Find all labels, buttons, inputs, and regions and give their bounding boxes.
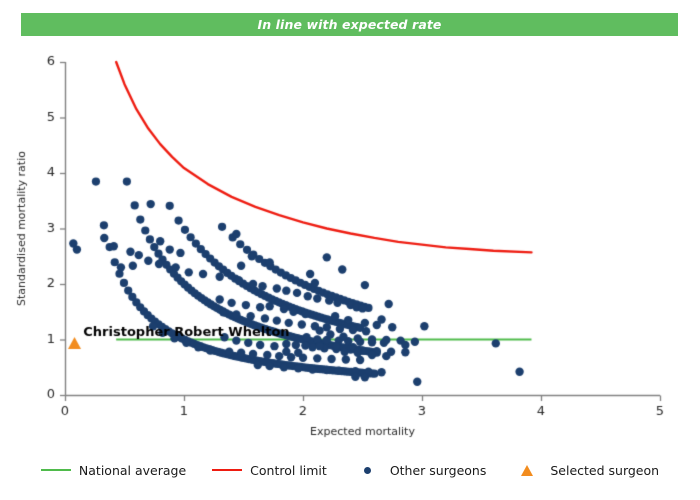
dot-icon [364, 467, 371, 474]
legend-item-control-limit[interactable]: Control limit [212, 463, 327, 478]
legend-label-national-average: National average [79, 463, 186, 478]
legend-label-other-surgeons: Other surgeons [390, 463, 487, 478]
legend-label-selected-surgeon: Selected surgeon [550, 463, 659, 478]
line-icon [212, 469, 242, 471]
legend-label-control-limit: Control limit [250, 463, 327, 478]
legend-item-selected-surgeon[interactable]: Selected surgeon [512, 463, 659, 478]
line-icon [41, 469, 71, 471]
funnel-plot-canvas [0, 40, 700, 450]
legend-item-national-average[interactable]: National average [41, 463, 186, 478]
status-banner-label: In line with expected rate [257, 17, 441, 32]
triangle-icon [521, 465, 533, 476]
legend-item-other-surgeons[interactable]: Other surgeons [353, 463, 487, 478]
status-banner: In line with expected rate [21, 13, 678, 36]
chart-legend: National average Control limit Other sur… [0, 456, 700, 484]
funnel-plot-page: In line with expected rate National aver… [0, 0, 700, 500]
